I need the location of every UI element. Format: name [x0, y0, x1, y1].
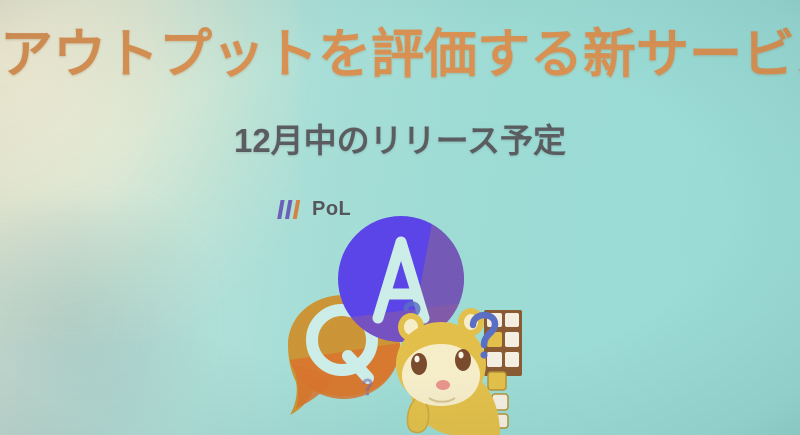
slide-subtitle: 12月中のリリース予定 [0, 124, 800, 157]
mascot-eye-right [455, 349, 471, 371]
mascot-nose [436, 380, 450, 390]
illustration-canvas [288, 212, 558, 435]
qa-mascot-illustration [288, 212, 558, 435]
presentation-slide: アウトプットを評価する新サービス 12月中のリリース予定 PoL [0, 0, 800, 435]
mascot-eye-left [411, 353, 427, 375]
background-shadow-blob [0, 205, 210, 435]
slide-title: アウトプットを評価する新サービス [0, 28, 800, 81]
